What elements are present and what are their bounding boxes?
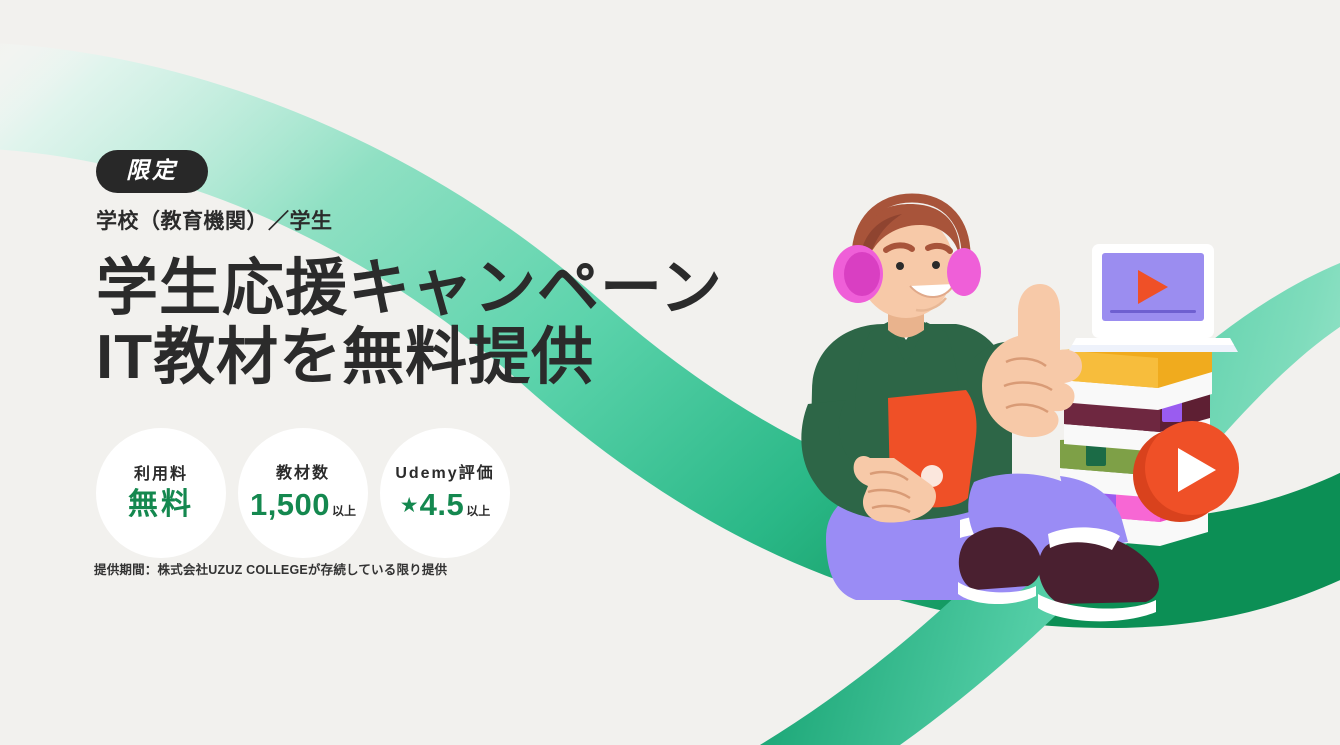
stat-main-rating: 4.5 (420, 489, 465, 520)
audience-subtitle: 学校（教育機関）／学生 (96, 211, 796, 232)
stat-circle-fee: 利用料 無料 (96, 428, 226, 558)
stat-main-courses: 1,500 (250, 489, 330, 520)
stat-circle-rating: Udemy評価 ★ 4.5 以上 (380, 428, 510, 558)
laptop-with-video (1068, 244, 1238, 352)
stat-label-courses: 教材数 (276, 466, 330, 482)
stat-value-courses: 1,500 以上 (250, 489, 356, 520)
stat-value-fee: 無料 (128, 490, 194, 520)
headline-line-2: IT教材を無料提供 (96, 323, 796, 392)
student-illustration (760, 190, 1260, 630)
stat-circles: 利用料 無料 教材数 1,500 以上 Udemy評価 ★ 4.5 以上 (96, 428, 510, 558)
stat-circle-courses: 教材数 1,500 以上 (238, 428, 368, 558)
stat-suffix-rating: 以上 (466, 505, 490, 517)
hero-banner: 限定 学校（教育機関）／学生 学生応援キャンペーン IT教材を無料提供 利用料 … (0, 0, 1340, 745)
stat-label-fee: 利用料 (134, 467, 188, 483)
page-title: 学生応援キャンペーン IT教材を無料提供 (96, 254, 796, 393)
shoe-front (1038, 534, 1159, 621)
star-icon: ★ (400, 495, 419, 516)
book-amber (1060, 342, 1212, 410)
headline-line-1: 学生応援キャンペーン (96, 254, 796, 323)
hero-text-block: 限定 学校（教育機関）／学生 学生応援キャンペーン IT教材を無料提供 (96, 150, 796, 393)
stat-label-rating: Udemy評価 (395, 466, 494, 482)
stat-value-rating: ★ 4.5 以上 (400, 489, 490, 520)
stat-main-fee: 無料 (128, 490, 194, 520)
limited-badge: 限定 (96, 150, 208, 193)
offer-period-note: 提供期間：株式会社UZUZ COLLEGEが存続している限り提供 (94, 559, 447, 578)
stat-suffix-courses: 以上 (332, 505, 356, 517)
